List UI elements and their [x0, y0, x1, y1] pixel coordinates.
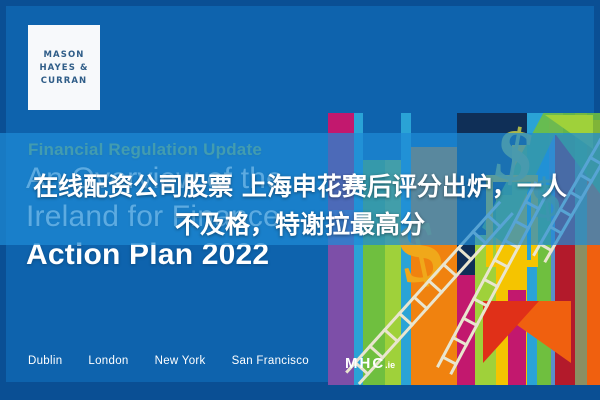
caption-text: 在线配资公司股票 上海申花赛后评分出炉，一人 不及格，特谢拉最高分: [0, 168, 600, 244]
caption-line-1: 在线配资公司股票 上海申花赛后评分出炉，一人: [0, 168, 600, 206]
logo-line-2: HAYES &: [39, 63, 88, 73]
poster-image: $ $ $ MASON HAYES &: [0, 0, 600, 400]
logo-line-3: CURRAN: [41, 76, 88, 86]
office-cities: Dublin London New York San Francisco: [28, 355, 309, 367]
logo-line-1: MASON: [44, 50, 85, 60]
city-new-york: New York: [155, 355, 206, 367]
caption-line-2: 不及格，特谢拉最高分: [0, 206, 600, 244]
mhc-brand: MHC: [345, 355, 385, 372]
mhc-wordmark: MHC.ie: [345, 355, 395, 372]
mason-hayes-curran-logo: MASON HAYES & CURRAN: [28, 25, 100, 110]
city-dublin: Dublin: [28, 355, 62, 367]
city-san-francisco: San Francisco: [232, 355, 309, 367]
mhc-tld: .ie: [385, 360, 395, 370]
city-london: London: [88, 355, 128, 367]
